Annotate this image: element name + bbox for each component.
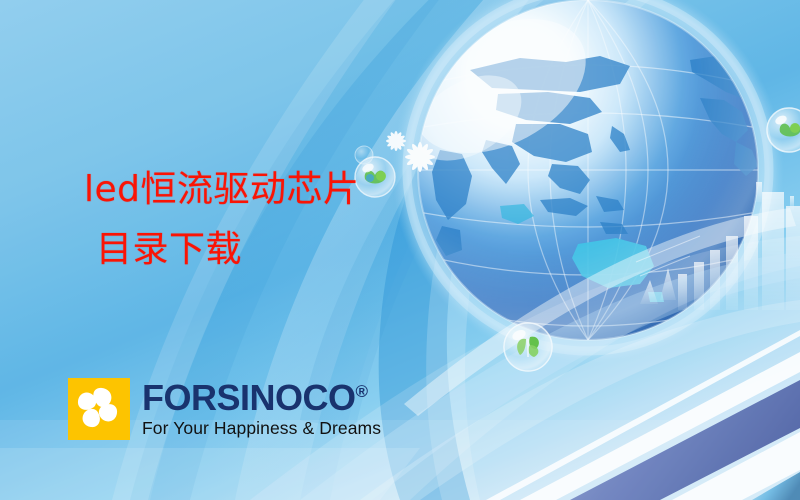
four-petal-pinwheel-icon — [68, 378, 130, 440]
headline-text: led恒流驱动芯片 目录下载 — [84, 160, 360, 280]
brand-tagline: For Your Happiness & Dreams — [142, 418, 381, 438]
headline-line-2: 目录下载 — [84, 220, 360, 280]
registered-trademark-icon: ® — [356, 382, 368, 401]
forsinoco-logo[interactable]: FORSINOCO® For Your Happiness & Dreams — [68, 378, 381, 440]
headline-line-1: led恒流驱动芯片 — [84, 169, 360, 210]
logo-wordmark: FORSINOCO® For Your Happiness & Dreams — [142, 378, 381, 438]
promo-banner: led恒流驱动芯片 目录下载 FORSINOCO® For Your Happi… — [0, 0, 800, 500]
brand-name: FORSINOCO® — [142, 380, 381, 416]
brand-name-text: FORSINOCO — [142, 377, 356, 418]
